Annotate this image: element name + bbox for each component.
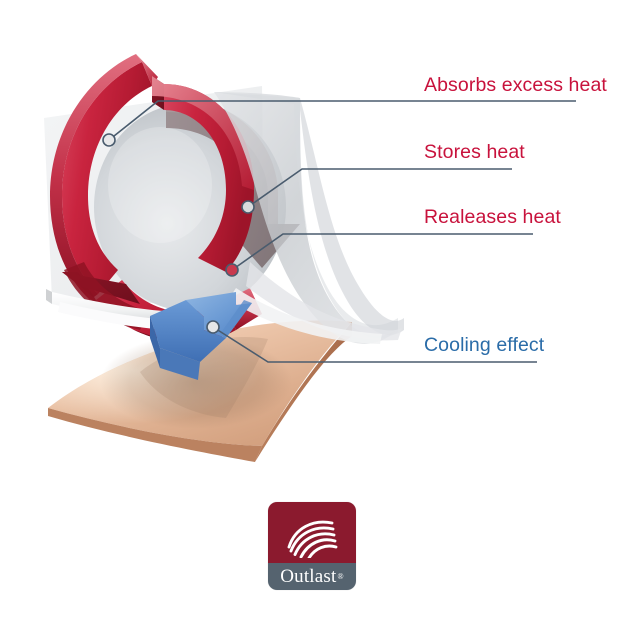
logo-brand-text: Outlast (280, 566, 336, 588)
callout-label-cooling-effect: Cooling effect (424, 334, 544, 357)
callout-dot-cooling (207, 321, 219, 333)
outlast-swoosh-icon (285, 516, 340, 558)
callout-dot-stores (242, 201, 254, 213)
outlast-logo[interactable]: Outlast® (268, 502, 356, 590)
figure-canvas: Absorbs excess heat Stores heat Realease… (0, 0, 625, 625)
callout-label-releases-heat: Realeases heat (424, 206, 561, 229)
callout-label-stores-heat: Stores heat (424, 141, 525, 164)
logo-wordmark: Outlast® (268, 563, 356, 590)
callout-dot-release (226, 264, 238, 276)
callout-label-absorbs-excess-heat: Absorbs excess heat (424, 74, 607, 97)
callout-dot-absorbs (103, 134, 115, 146)
